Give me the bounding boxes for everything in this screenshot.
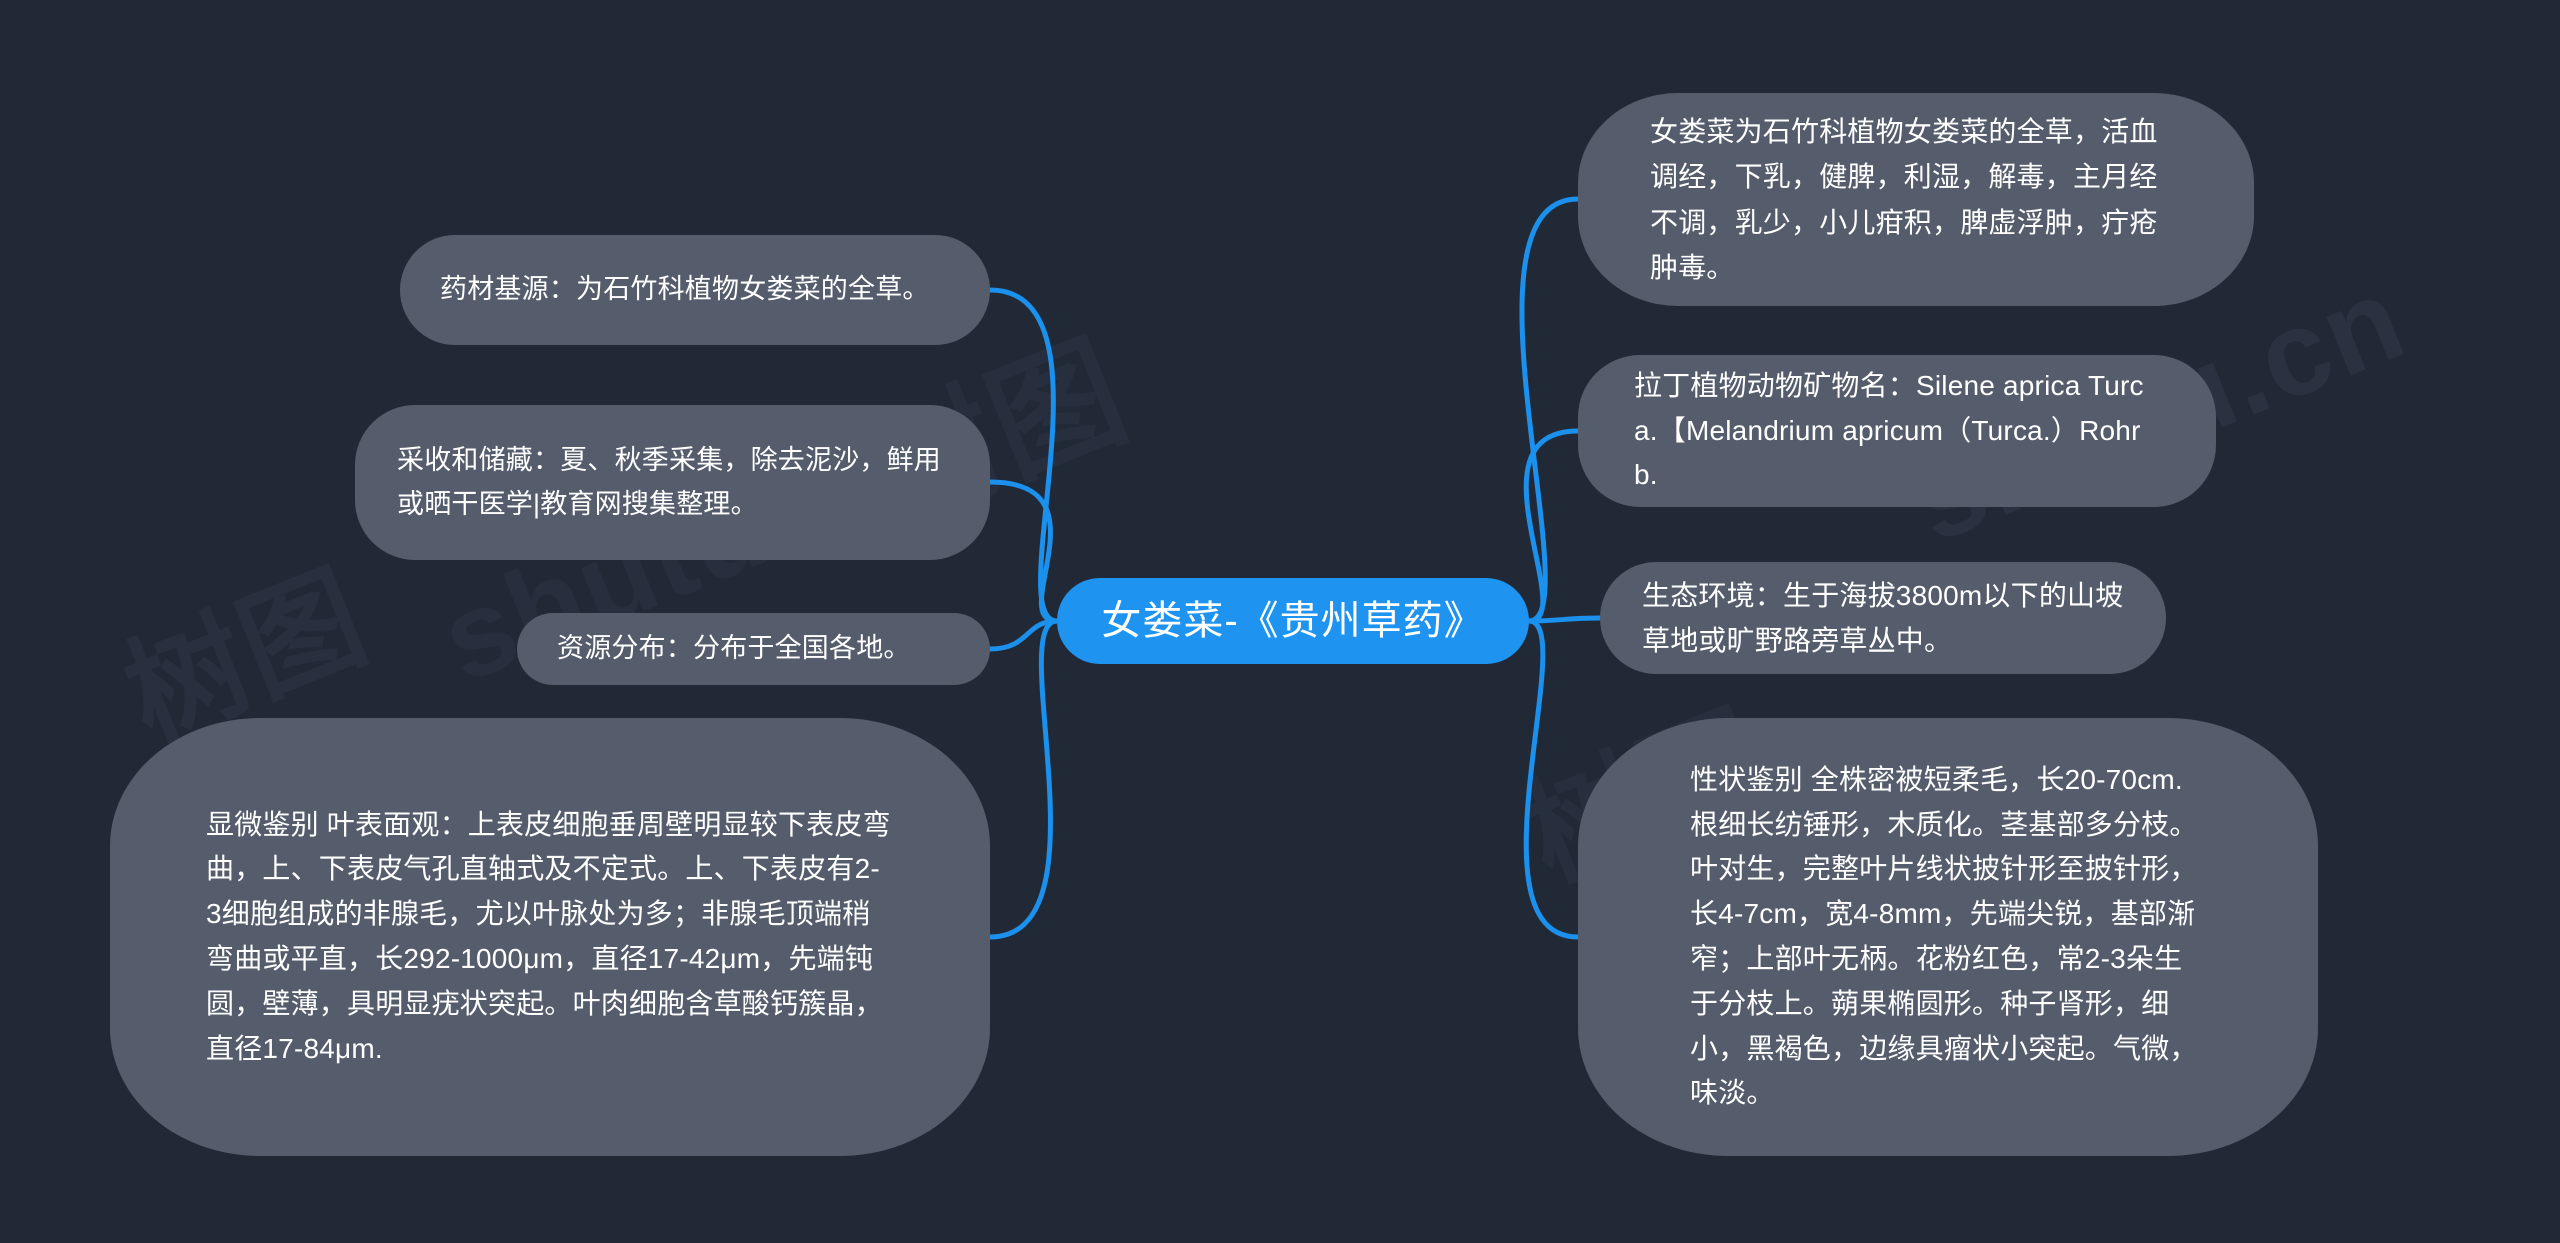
branch-node-character-identification-label: 性状鉴别 全株密被短柔毛，长20-70cm.根细长纺锤形，木质化。茎基部多分枝。… xyxy=(1690,758,2208,1116)
link-root-ecology xyxy=(1529,618,1600,621)
branch-node-overview-label: 女娄菜为石竹科植物女娄菜的全草，活血调经，下乳，健脾，利湿，解毒，主月经不调，乳… xyxy=(1650,109,2182,290)
link-root-overview xyxy=(1522,199,1578,621)
root-node-label: 女娄菜-《贵州草药》 xyxy=(1057,589,1529,654)
mindmap-canvas: 树图 shutu.cn 树图 shutu.cn 树图 女娄菜-《贵州草药》 药材… xyxy=(0,0,2560,1243)
link-root-characters xyxy=(1526,621,1578,937)
branch-node-source[interactable]: 药材基源：为石竹科植物女娄菜的全草。 xyxy=(400,235,990,345)
branch-node-harvest-label: 采收和储藏：夏、秋季采集，除去泥沙，鲜用或晒干医学|教育网搜集整理。 xyxy=(397,439,948,526)
branch-node-source-label: 药材基源：为石竹科植物女娄菜的全草。 xyxy=(440,268,950,312)
branch-node-latin-name-label: 拉丁植物动物矿物名：Silene aprica Turca.【Melandriu… xyxy=(1634,364,2160,498)
branch-node-character-identification[interactable]: 性状鉴别 全株密被短柔毛，长20-70cm.根细长纺锤形，木质化。茎基部多分枝。… xyxy=(1578,718,2318,1156)
branch-node-ecology[interactable]: 生态环境：生于海拔3800m以下的山坡草地或旷野路旁草丛中。 xyxy=(1600,562,2166,674)
branch-node-overview[interactable]: 女娄菜为石竹科植物女娄菜的全草，活血调经，下乳，健脾，利湿，解毒，主月经不调，乳… xyxy=(1578,93,2254,306)
link-root-distribution xyxy=(990,621,1057,649)
root-node[interactable]: 女娄菜-《贵州草药》 xyxy=(1057,578,1529,664)
branch-node-microscopic-identification-label: 显微鉴别 叶表面观：上表皮细胞垂周壁明显较下表皮弯曲，上、下表皮气孔直轴式及不定… xyxy=(206,803,894,1072)
link-root-harvest xyxy=(990,482,1057,621)
branch-node-distribution[interactable]: 资源分布：分布于全国各地。 xyxy=(517,613,990,685)
branch-node-ecology-label: 生态环境：生于海拔3800m以下的山坡草地或旷野路旁草丛中。 xyxy=(1642,573,2124,664)
link-root-source xyxy=(990,290,1057,621)
branch-node-harvest[interactable]: 采收和储藏：夏、秋季采集，除去泥沙，鲜用或晒干医学|教育网搜集整理。 xyxy=(355,405,990,560)
link-root-latin xyxy=(1526,431,1578,621)
link-root-micro xyxy=(990,621,1057,937)
branch-node-microscopic-identification[interactable]: 显微鉴别 叶表面观：上表皮细胞垂周壁明显较下表皮弯曲，上、下表皮气孔直轴式及不定… xyxy=(110,718,990,1156)
branch-node-distribution-label: 资源分布：分布于全国各地。 xyxy=(557,627,950,671)
branch-node-latin-name[interactable]: 拉丁植物动物矿物名：Silene aprica Turca.【Melandriu… xyxy=(1578,355,2216,507)
